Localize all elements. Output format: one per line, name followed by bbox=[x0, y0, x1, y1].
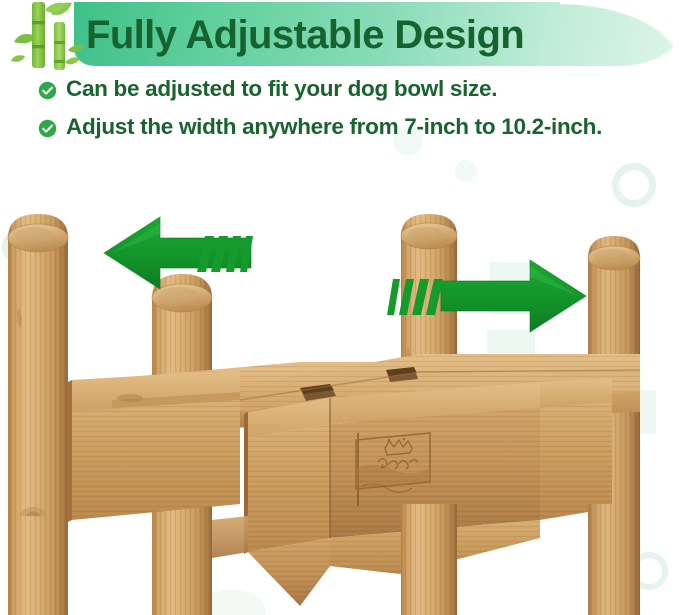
feature-list: Can be adjusted to fit your dog bowl siz… bbox=[38, 76, 638, 151]
list-item-label: Adjust the width anywhere from 7-inch to… bbox=[66, 114, 602, 141]
list-item-label: Can be adjusted to fit your dog bowl siz… bbox=[66, 76, 497, 103]
infographic-canvas: Fully Adjustable Design Can be adjusted … bbox=[0, 0, 679, 615]
list-item: Can be adjusted to fit your dog bowl siz… bbox=[38, 76, 638, 103]
check-circle-icon bbox=[38, 119, 57, 138]
check-circle-icon bbox=[38, 81, 57, 100]
watermark-blob-center-low bbox=[455, 160, 477, 182]
list-item: Adjust the width anywhere from 7-inch to… bbox=[38, 114, 638, 141]
product-photo bbox=[0, 186, 679, 615]
page-title: Fully Adjustable Design bbox=[86, 8, 646, 62]
rail-left-sliding bbox=[68, 370, 240, 522]
bamboo-stalks-icon bbox=[6, 0, 84, 72]
